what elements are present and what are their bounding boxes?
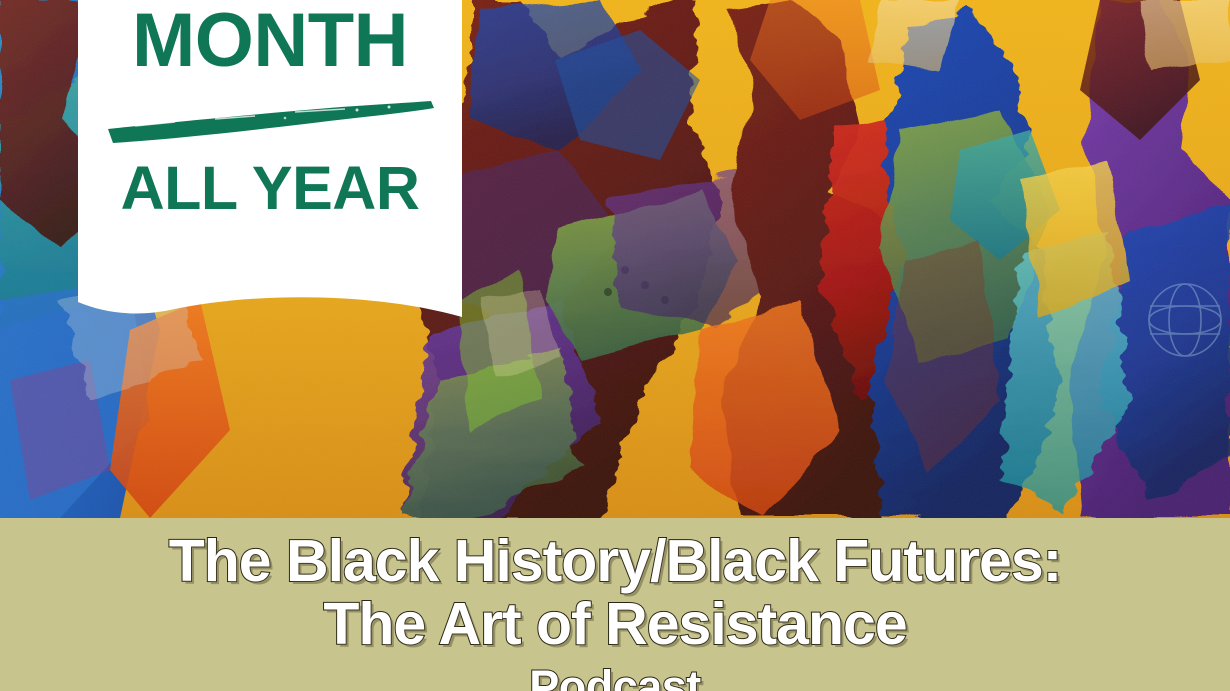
- brush-stroke-underline-icon: [78, 98, 462, 146]
- event-title-line-1: The Black History/Black Futures:: [0, 518, 1230, 591]
- event-subtitle: Podcast: [0, 654, 1230, 691]
- event-title-line-2: The Art of Resistance: [0, 591, 1230, 654]
- title-band: The Black History/Black Futures: The Art…: [0, 518, 1230, 691]
- logo-text-month: MONTH: [78, 6, 462, 76]
- event-poster: HISTORY MONTH ALL YEAR The Black History…: [0, 0, 1230, 691]
- black-history-month-logo-card: HISTORY MONTH ALL YEAR: [78, 0, 462, 317]
- logo-text-all-year: ALL YEAR: [78, 160, 462, 216]
